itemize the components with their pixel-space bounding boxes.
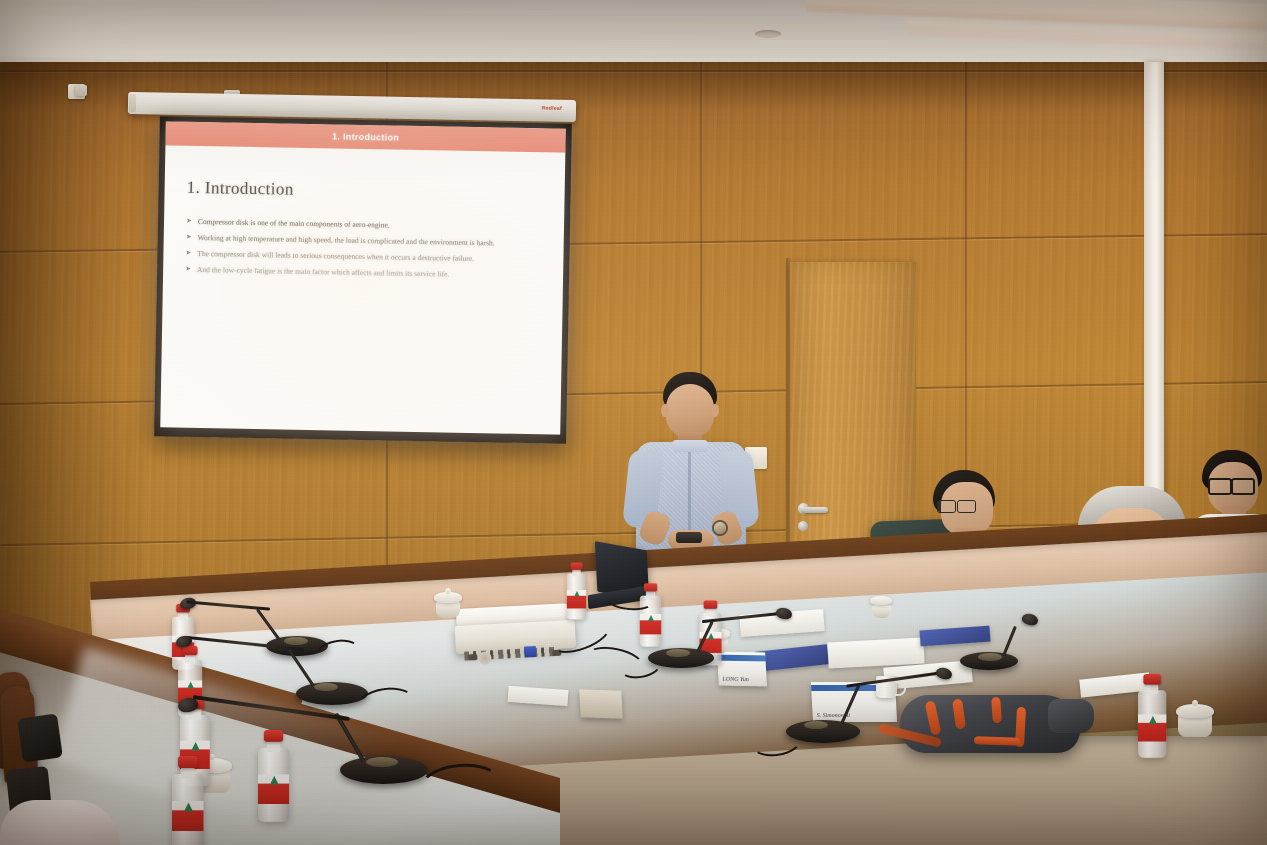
lidded-teacup[interactable] [870,596,892,616]
projector-foot [468,654,477,660]
microphone-base-ring [284,637,308,645]
slide-bullet: ➤ Working at high temperature and high s… [186,232,546,251]
head [666,384,714,438]
pine-tree-icon [184,803,193,812]
ear [661,404,669,417]
projection-screen: 1. Introduction 1. Introduction ➤ Compre… [154,116,572,443]
pine-tree-icon [574,591,580,597]
bottle-cap [178,756,198,768]
teacup-body [872,605,891,618]
conference-room-photo: Redleaf 1. Introduction 1. Introduction … [0,0,1267,845]
door-lock[interactable] [798,521,808,531]
microphone-base-ring [314,683,338,691]
pine-tree-icon [187,682,194,689]
bottle-cap [264,730,283,742]
teacup-knob [209,754,215,760]
glasses-icon [957,500,976,513]
slide-bullet: ➤ Compressor disk is one of the main com… [186,216,546,235]
microphone-base [340,756,428,784]
water-bottle[interactable] [172,756,204,845]
teacup-body [436,601,460,618]
bottle-cap [644,583,657,591]
bullet-marker-icon: ➤ [185,248,191,260]
slide-bullet-list: ➤ Compressor disk is one of the main com… [185,216,546,283]
backpack[interactable] [900,685,1095,757]
slide-bullet-text: And the low-cycle fatigue is the main fa… [197,264,450,280]
placard-name-text: LONG Yun [722,677,763,684]
paper-stack[interactable] [827,638,924,669]
wristwatch [714,522,726,534]
pine-tree-icon [270,776,279,785]
chair-seat [17,713,63,762]
bullet-marker-icon: ➤ [186,232,192,244]
slide-header-title: 1. Introduction [332,131,399,142]
screen-housing-cap [129,94,136,112]
presentation-clicker[interactable] [676,532,702,543]
bullet-marker-icon: ➤ [185,264,191,276]
pine-tree-icon [648,615,654,621]
card-holder-face [579,689,623,718]
pine-tree-icon [708,633,714,639]
backpack-strap [974,736,1020,746]
mandarin-collar [672,440,708,452]
slide-bullet: ➤ The compressor disk will leads to seri… [185,248,545,267]
bullet-marker-icon: ➤ [186,216,192,228]
water-bottle[interactable] [1138,674,1166,758]
slide-bullet-text: Working at high temperature and high spe… [198,232,495,249]
microphone-base-ring [366,757,398,767]
screen-brand-logo: Redleaf [542,105,562,111]
door-handle[interactable] [802,507,828,513]
projector-vga-port [524,646,537,658]
card-holder[interactable] [579,689,623,718]
pine-tree-icon [1149,716,1157,724]
backpack-side-pocket [1048,699,1094,733]
screen-bracket [75,85,87,96]
bottle-cap [571,562,583,569]
glasses-icon [937,500,956,513]
water-bottle[interactable] [567,562,586,619]
bottle-cap [183,646,198,655]
teacup-lid [1176,704,1214,718]
slide-title: 1. Introduction [186,178,546,205]
teacup-lid [870,596,892,605]
name-placard[interactable]: LONG Yun [717,652,767,687]
slide-body: 1. Introduction ➤ Compressor disk is one… [163,145,565,282]
slide-bullet-text: The compressor disk will leads to seriou… [197,248,474,265]
water-bottle[interactable] [258,730,289,822]
bottle-cap [1143,674,1161,685]
slide-bullet-text: Compressor disk is one of the main compo… [198,216,390,231]
bottle-cap [704,600,718,608]
slide: 1. Introduction 1. Introduction ➤ Compre… [160,121,566,434]
microphone-base-ring [978,653,1002,661]
teacup-knob [445,588,451,594]
teacup-knob [1192,700,1198,706]
placard-name-text: S. Simonovski [817,713,894,719]
placard-stripe [717,655,765,662]
ceiling-vent [755,30,781,38]
microphone-base-ring [804,721,828,729]
slide-bullet: ➤ And the low-cycle fatigue is the main … [185,264,545,283]
microphone-base [960,652,1018,670]
pine-tree-icon [191,742,200,751]
audience-member-foreground-partial [0,800,120,845]
shoulder [0,800,120,845]
microphone-base-ring [666,649,690,657]
ear [711,404,719,417]
lidded-teacup[interactable] [434,592,462,618]
backpack-strap [991,697,1002,724]
lidded-teacup[interactable] [1176,704,1214,740]
